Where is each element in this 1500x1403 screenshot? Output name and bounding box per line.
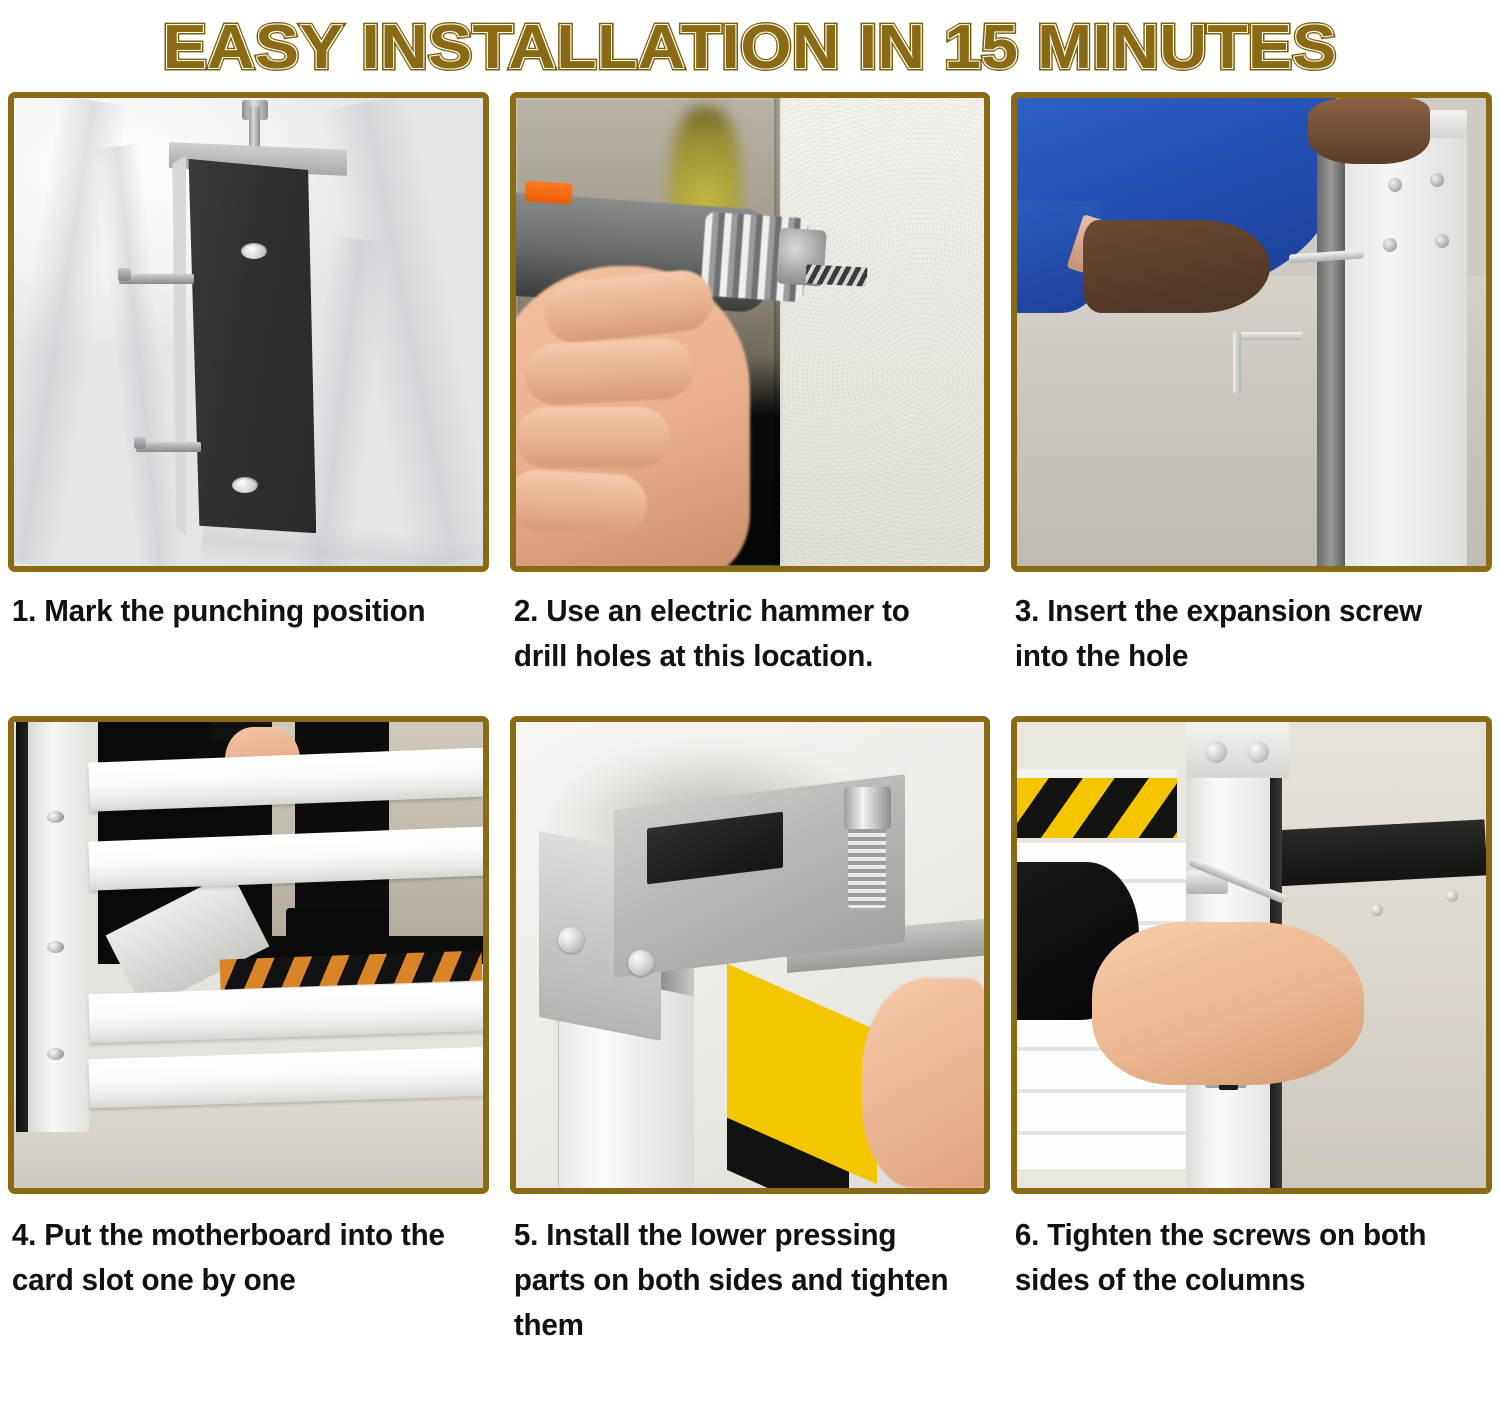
title-banner: EASY INSTALLATION IN 15 MINUTES EASY INS… xyxy=(0,0,1500,92)
drill-orange-accent xyxy=(524,181,572,205)
step-photo-1 xyxy=(14,98,483,566)
wall-surface xyxy=(780,98,984,566)
column-screw xyxy=(1247,741,1269,763)
bracket-screw xyxy=(558,927,584,953)
column-with-card-slots xyxy=(28,722,89,1132)
step-photo-2 xyxy=(516,98,985,566)
step-image-frame-2 xyxy=(510,92,991,572)
hand-with-wrench xyxy=(1092,922,1364,1085)
step-photo-5 xyxy=(516,722,985,1188)
step-card-3: 3. Insert the expansion screw into the h… xyxy=(1011,92,1492,694)
step-card-4: 4. Put the motherboard into the card slo… xyxy=(8,716,489,1348)
step-caption-2: 2. Use an electric hammer to drill holes… xyxy=(510,572,976,694)
step-card-5: 5. Install the lower pressing parts on b… xyxy=(510,716,991,1348)
step-caption-3: 3. Insert the expansion screw into the h… xyxy=(1011,572,1477,694)
hazard-stripe xyxy=(1017,778,1176,839)
step-card-1: 1. Mark the punching position xyxy=(8,92,489,694)
page-title: EASY INSTALLATION IN 15 MINUTES EASY INS… xyxy=(163,17,1337,79)
step-image-frame-1 xyxy=(8,92,489,572)
step-image-frame-5 xyxy=(510,716,991,1194)
step-photo-6 xyxy=(1017,722,1486,1188)
bolt-icon xyxy=(844,787,891,829)
title-outline-layer: EASY INSTALLATION IN 15 MINUTES xyxy=(163,13,1337,82)
steps-row-1: 1. Mark the punching position xyxy=(0,92,1500,694)
row-separator xyxy=(0,694,1500,716)
worker-upper-hand xyxy=(1308,98,1430,164)
template-hole-lower xyxy=(232,477,258,493)
step-caption-4: 4. Put the motherboard into the card slo… xyxy=(8,1194,474,1316)
step-caption-6: 6. Tighten the screws on both sides of t… xyxy=(1011,1194,1477,1316)
step-caption-5: 5. Install the lower pressing parts on b… xyxy=(510,1194,976,1348)
step-caption-1: 1. Mark the punching position xyxy=(8,572,474,694)
step-card-6: 6. Tighten the screws on both sides of t… xyxy=(1011,716,1492,1348)
drill-bit-icon xyxy=(806,265,868,287)
step-image-frame-4 xyxy=(8,716,489,1194)
step-photo-4 xyxy=(14,722,483,1188)
step-photo-3 xyxy=(1017,98,1486,566)
column-screw xyxy=(1205,741,1227,763)
white-column xyxy=(1345,117,1467,566)
step-image-frame-3 xyxy=(1011,92,1492,572)
step-image-frame-6 xyxy=(1011,716,1492,1194)
steps-row-2: 4. Put the motherboard into the card slo… xyxy=(0,716,1500,1348)
allen-key-icon xyxy=(1233,332,1303,340)
worker-arm xyxy=(1083,220,1270,314)
infographic-page: EASY INSTALLATION IN 15 MINUTES EASY INS… xyxy=(0,0,1500,1403)
hand-holding-part xyxy=(862,978,984,1188)
step-card-2: 2. Use an electric hammer to drill holes… xyxy=(510,92,991,694)
